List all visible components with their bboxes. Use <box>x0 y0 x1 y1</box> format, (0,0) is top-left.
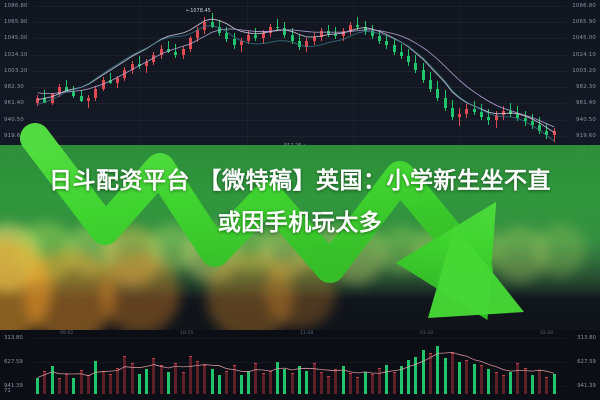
volume-bar <box>233 365 236 394</box>
volume-bar <box>94 361 97 394</box>
price-axis-tick: 961.40 <box>576 100 596 106</box>
volume-bar <box>182 372 185 394</box>
volume-bar <box>240 375 243 394</box>
candle-body <box>487 117 490 120</box>
gridline <box>34 38 566 39</box>
volume-bar <box>203 365 206 394</box>
volume-bar <box>509 372 512 394</box>
volume-bar <box>225 371 228 394</box>
candle-body <box>342 31 345 36</box>
volume-bar <box>51 366 54 394</box>
volume-bar <box>414 357 417 394</box>
volume-bar <box>152 358 155 394</box>
price-axis-tick: 961.40 <box>4 100 24 106</box>
volume-bar <box>495 372 498 394</box>
candle-body <box>407 56 410 62</box>
candle-body <box>145 62 148 67</box>
volume-bar <box>298 366 301 394</box>
volume-bar <box>254 363 257 394</box>
candle-wick <box>88 95 89 107</box>
volume-bar <box>262 373 265 394</box>
price-axis-tick: 1003.20 <box>4 68 28 74</box>
candle-body <box>225 33 228 39</box>
volume-bar <box>131 363 134 394</box>
volume-bar <box>313 363 316 394</box>
candle-body <box>58 87 61 93</box>
volume-bar <box>305 371 308 394</box>
volume-bar <box>283 369 286 394</box>
volume-bar <box>58 378 61 394</box>
candle-body <box>545 131 548 136</box>
price-axis-tick: 1086.80 <box>572 3 596 9</box>
moving-average-line <box>38 26 555 142</box>
date-label: 02-20 <box>540 331 553 336</box>
volume-bar <box>123 356 126 394</box>
candle-body <box>364 27 367 32</box>
moving-average-line <box>38 19 555 132</box>
gridline <box>353 0 354 160</box>
candle-body <box>516 114 519 119</box>
gridline <box>140 0 141 160</box>
volume-bar <box>400 366 403 394</box>
volume-chart-panel: 313.80627.59941.3971 313.80627.59941.39 … <box>0 330 600 400</box>
candle-body <box>473 109 476 112</box>
volume-bar <box>422 350 425 394</box>
volume-axis-tick: 627.59 <box>577 359 596 365</box>
candle-wick <box>357 17 358 29</box>
news-thumbnail: 1086.801065.901045.001024.101003.20982.3… <box>0 0 600 400</box>
candle-body <box>233 39 236 45</box>
price-axis-tick: 940.50 <box>4 117 24 123</box>
volume-bar <box>553 374 556 394</box>
headline-line-2: 或因手机玩太多 <box>0 202 600 244</box>
candle-body <box>43 98 46 103</box>
price-axis-tick: 1086.80 <box>4 3 28 9</box>
candle-body <box>451 108 454 117</box>
candle-body <box>480 112 483 117</box>
annotation-high: ←1078.45 <box>186 8 211 14</box>
volume-bar <box>167 372 170 394</box>
candle-body <box>495 115 498 120</box>
volume-bar <box>174 363 177 394</box>
volume-bar <box>524 368 527 394</box>
candle-body <box>174 52 177 55</box>
volume-bar <box>385 365 388 394</box>
candle-body <box>269 27 272 33</box>
volume-bar <box>436 346 439 394</box>
price-axis-tick: 1065.90 <box>572 19 596 25</box>
candle-body <box>160 49 163 55</box>
candle-body <box>51 94 54 103</box>
candle-body <box>458 114 461 117</box>
volume-bar <box>342 366 345 394</box>
candle-body <box>444 98 447 107</box>
volume-bar <box>371 374 374 394</box>
candle-body <box>393 45 396 51</box>
candle-body <box>276 27 279 29</box>
candle-body <box>538 125 541 131</box>
candle-body <box>378 36 381 41</box>
volume-bar <box>516 363 519 394</box>
volume-bar <box>444 358 447 394</box>
price-axis-tick: 1045.00 <box>572 35 596 41</box>
candle-body <box>400 52 403 57</box>
candle-body <box>502 111 505 116</box>
volume-bar <box>36 378 39 394</box>
gridline <box>34 338 566 339</box>
candle-body <box>305 41 308 47</box>
price-axis-tick: 919.60 <box>4 133 24 139</box>
candle-body <box>320 31 323 36</box>
candle-body <box>254 35 257 38</box>
candle-body <box>327 31 330 33</box>
volume-bar <box>138 374 141 394</box>
volume-bar <box>109 374 112 394</box>
candle-wick <box>459 108 460 127</box>
gridline <box>34 87 566 88</box>
price-axis-tick: 982.30 <box>576 84 596 90</box>
volume-bar <box>545 377 548 394</box>
volume-bar <box>473 364 476 394</box>
bokeh-light <box>100 254 180 334</box>
volume-bar <box>160 365 163 394</box>
volume-bar <box>538 370 541 394</box>
volume-ma-line <box>38 352 555 377</box>
volume-bar <box>356 377 359 394</box>
candle-body <box>189 38 192 49</box>
volume-bar <box>320 372 323 394</box>
price-axis-tick: 919.60 <box>576 133 596 139</box>
candle-body <box>385 41 388 46</box>
price-axis-tick: 1024.10 <box>4 52 28 58</box>
candle-body <box>436 89 439 98</box>
volume-bar <box>80 370 83 394</box>
candle-body <box>203 22 206 30</box>
volume-bar <box>276 362 279 394</box>
candle-body <box>218 27 221 33</box>
candle-body <box>291 35 294 41</box>
candle-body <box>116 78 119 83</box>
price-axis-tick: 982.30 <box>4 84 24 90</box>
candle-body <box>356 25 359 27</box>
volume-bar <box>465 360 468 394</box>
candle-body <box>414 63 417 71</box>
candle-body <box>36 98 39 103</box>
candle-body <box>509 111 512 114</box>
candle-body <box>80 96 83 101</box>
volume-bar <box>43 371 46 394</box>
price-axis-tick: 1003.20 <box>572 68 596 74</box>
candle-body <box>138 64 141 66</box>
candle-body <box>313 37 316 41</box>
candle-body <box>167 49 170 52</box>
candle-body <box>422 70 425 79</box>
candle-body <box>211 22 214 27</box>
gridline <box>460 0 461 160</box>
gridline <box>247 0 248 160</box>
volume-bar <box>531 375 534 394</box>
candle-body <box>298 41 301 47</box>
candle-body <box>109 80 112 83</box>
volume-bar <box>407 360 410 394</box>
volume-bar <box>145 369 148 394</box>
price-axis-tick: 1065.90 <box>4 19 28 25</box>
candle-body <box>349 25 352 30</box>
headline: 日斗配资平台 【微特稿】英国：小学新生坐不直 或因手机玩太多 <box>0 160 600 244</box>
volume-axis-tick: 313.80 <box>4 335 23 341</box>
candle-body <box>429 80 432 89</box>
date-label: 11-28 <box>300 331 313 336</box>
gridline <box>34 71 566 72</box>
candle-body <box>531 121 534 124</box>
volume-bar <box>364 372 367 394</box>
candle-body <box>553 131 556 136</box>
volume-bar <box>327 376 330 394</box>
gridline <box>34 103 566 104</box>
volume-bar <box>65 374 68 394</box>
candle-body <box>123 70 126 78</box>
gridline <box>34 6 566 7</box>
volume-bar <box>291 373 294 394</box>
volume-bar <box>247 371 250 394</box>
volume-bar <box>116 368 119 394</box>
volume-axis-tick: 71 <box>4 388 11 394</box>
volume-bar <box>393 372 396 394</box>
candle-wick <box>277 19 278 31</box>
volume-bar <box>502 375 505 394</box>
candle-body <box>196 30 199 39</box>
volume-bar <box>218 375 221 394</box>
candle-body <box>524 118 527 121</box>
volume-bar <box>269 371 272 394</box>
volume-bar <box>211 369 214 394</box>
headline-line-1: 日斗配资平台 【微特稿】英国：小学新生坐不直 <box>0 160 600 202</box>
candle-wick <box>139 56 140 68</box>
volume-bar <box>458 362 461 394</box>
moving-average-line <box>38 29 555 127</box>
candle-body <box>87 98 90 100</box>
candle-body <box>247 35 250 41</box>
candle-body <box>152 55 155 62</box>
bokeh-light <box>264 256 336 328</box>
gridline <box>34 22 566 23</box>
volume-bar <box>196 361 199 394</box>
volume-bar <box>480 365 483 394</box>
price-axis-tick: 1024.10 <box>572 52 596 58</box>
volume-bar <box>334 369 337 394</box>
candle-body <box>465 109 468 114</box>
volume-bar <box>487 369 490 394</box>
gridline <box>34 136 566 137</box>
date-label: 01-10 <box>420 331 433 336</box>
price-axis-tick: 940.50 <box>576 117 596 123</box>
candle-body <box>334 34 337 36</box>
candle-body <box>283 28 286 34</box>
gridline <box>34 120 566 121</box>
candle-body <box>371 31 374 36</box>
volume-bar <box>349 373 352 394</box>
volume-bar <box>189 356 192 394</box>
volume-axis-tick: 313.80 <box>577 335 596 341</box>
candle-body <box>262 33 265 38</box>
volume-bar <box>102 371 105 394</box>
volume-bar <box>451 353 454 394</box>
date-label: 10-15 <box>180 331 193 336</box>
gridline <box>34 55 566 56</box>
volume-axis-tick: 941.39 <box>577 383 596 389</box>
candle-body <box>72 92 75 96</box>
date-label: 09-02 <box>60 331 73 336</box>
gridline <box>34 362 566 363</box>
volume-bar <box>72 378 75 394</box>
candle-body <box>65 87 68 92</box>
price-axis-tick: 1045.00 <box>4 35 28 41</box>
volume-bar <box>378 368 381 394</box>
candle-body <box>240 41 243 46</box>
candle-body <box>131 64 134 70</box>
candle-body <box>102 80 105 89</box>
volume-bar <box>429 353 432 394</box>
candle-body <box>94 89 97 98</box>
volume-bar <box>87 375 90 394</box>
candle-body <box>182 49 185 54</box>
volume-axis-tick: 627.59 <box>4 359 23 365</box>
